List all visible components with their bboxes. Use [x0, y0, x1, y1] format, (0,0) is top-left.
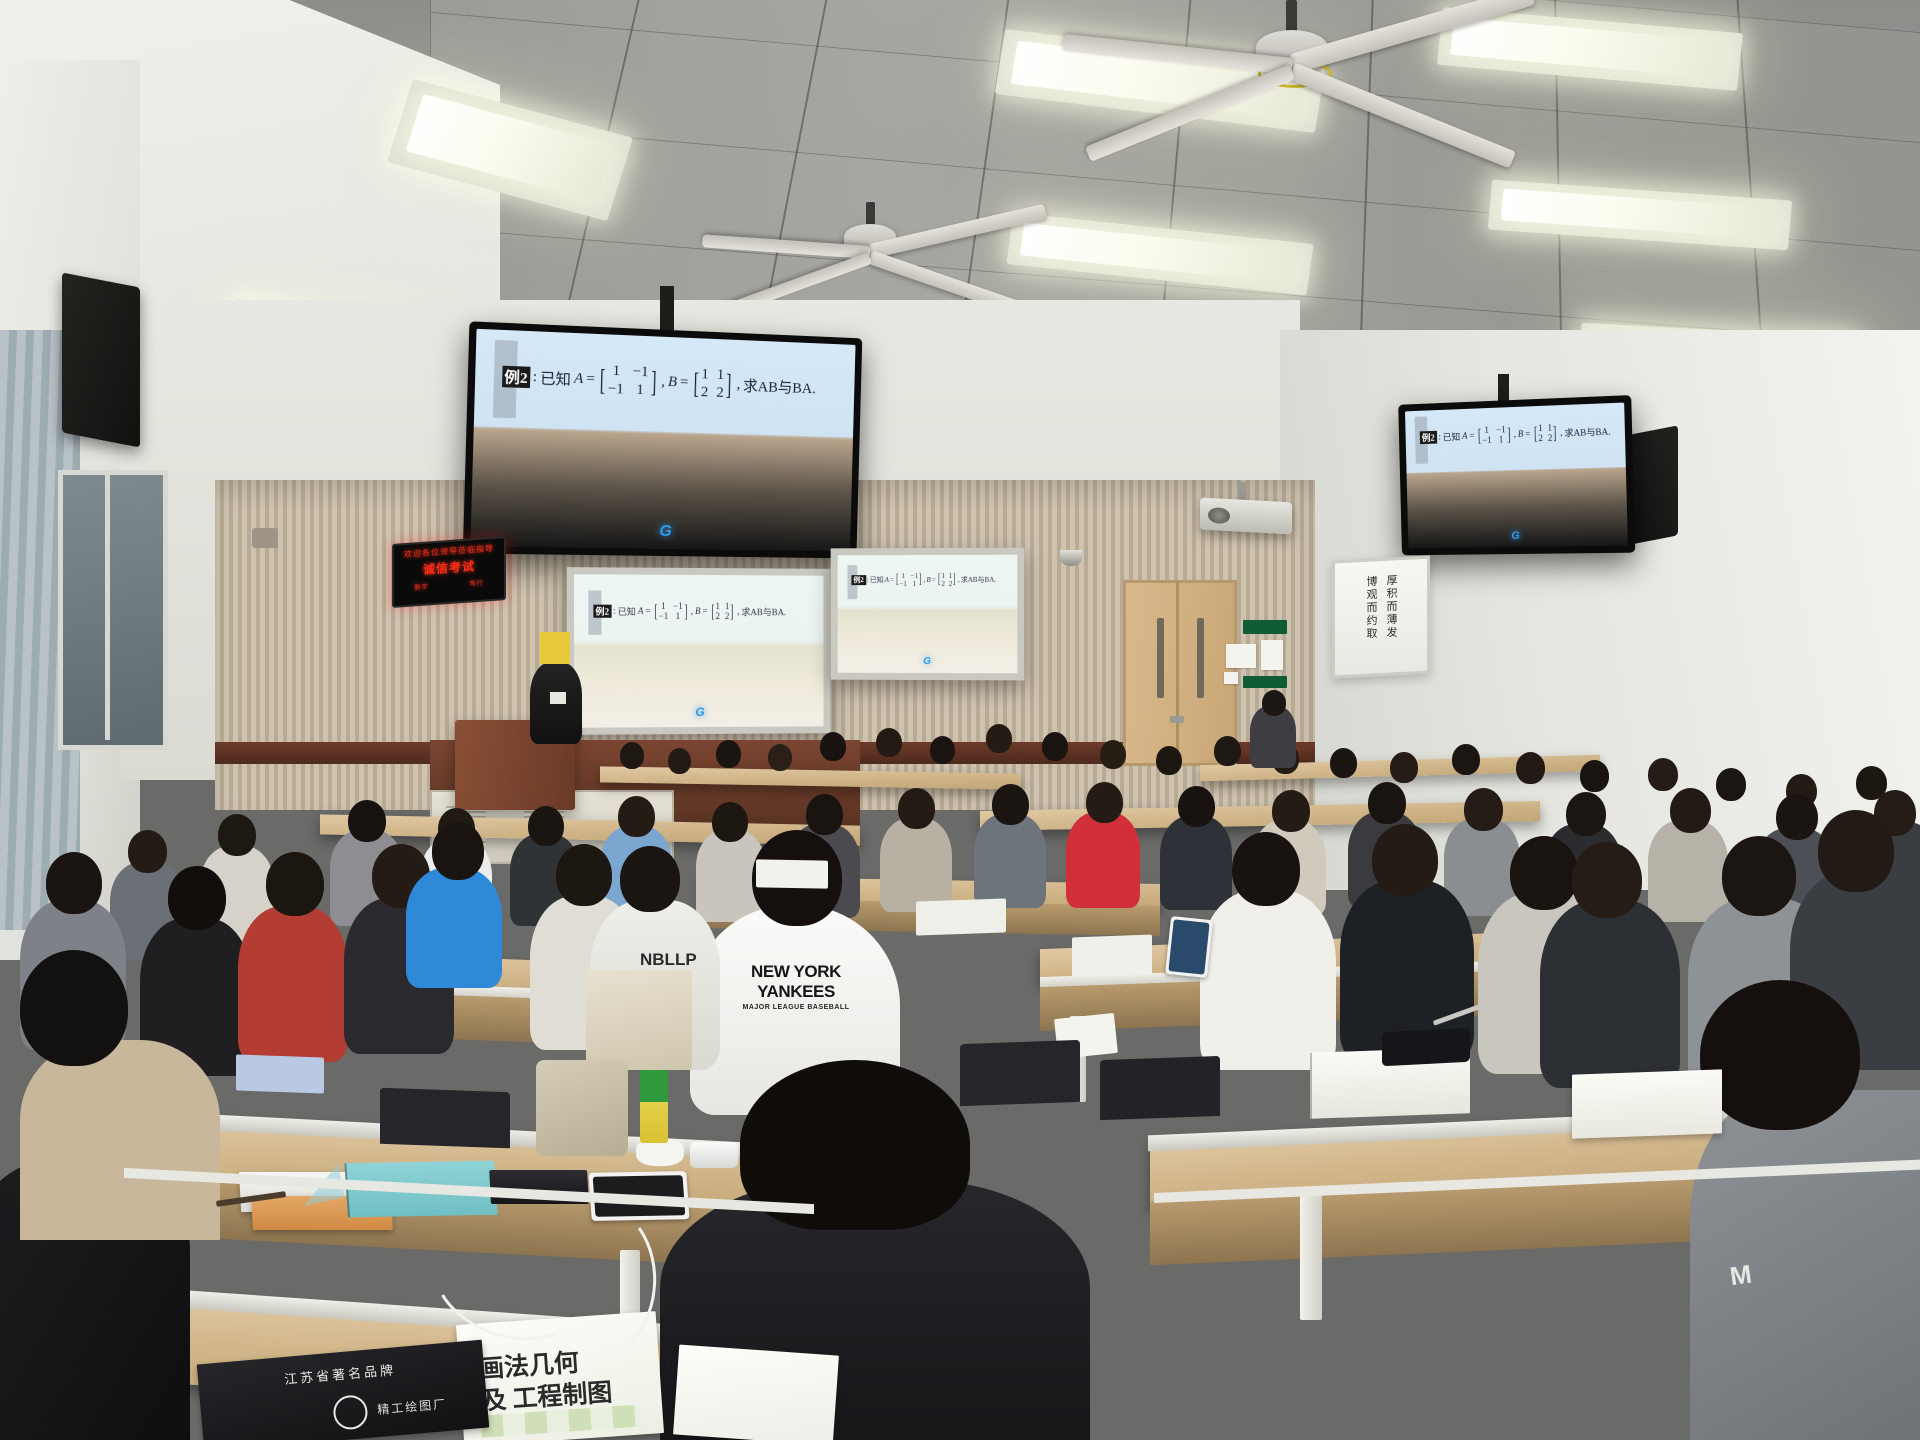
student-head [128, 830, 167, 873]
chair-back [1100, 1056, 1220, 1120]
student-head [556, 844, 612, 906]
wall-vent [252, 528, 278, 548]
slide-comma-2: , [736, 376, 740, 393]
slide-matrix-a-name: A [1462, 431, 1468, 441]
cell: −1 [899, 580, 906, 588]
student-torso [880, 818, 952, 912]
slide-comma: , [1513, 429, 1515, 439]
backpack[interactable] [536, 1060, 628, 1156]
cell: 1 [659, 601, 669, 611]
student-head [992, 784, 1029, 825]
cell: 1 [715, 601, 719, 611]
student-torso [1540, 900, 1680, 1088]
led-line-3-right: 笃行 [469, 578, 483, 588]
led-marquee-sign: 欢迎各位领导莅临指导 诚信考试 勤学 笃行 [392, 536, 506, 608]
student-head [348, 800, 386, 842]
student-torso-red-hoodie [1066, 812, 1140, 908]
sleeve-print: M [1728, 1259, 1754, 1293]
tv-brand-logo: G [1511, 530, 1520, 542]
slide-matrix-b: [ 1 1 2 2 ] [710, 601, 736, 621]
slide-equals-2: = [702, 606, 707, 616]
open-book[interactable] [1572, 1069, 1722, 1138]
student-head [1572, 842, 1642, 918]
slide-example-label: 例2 [1420, 431, 1437, 444]
cell: 1 [632, 381, 648, 399]
canvas-bag[interactable] [586, 970, 692, 1070]
student-torso [1160, 816, 1232, 910]
cell: 2 [1548, 433, 1553, 443]
student-head [1648, 758, 1678, 791]
student-head [1232, 832, 1300, 906]
slide-comma: , [691, 606, 693, 616]
slide-comma-2: , [1560, 427, 1563, 437]
window-mullion [105, 470, 110, 740]
slide-question: 求AB与BA. [741, 605, 786, 618]
slide-given: 已知 [1443, 430, 1461, 443]
hoodie-sleeve-text: NBLLP [640, 950, 697, 970]
slide-matrix-a: [ 1 −1 −1 1 ] [895, 572, 923, 588]
earphone-case[interactable] [690, 1142, 738, 1168]
student-head [1776, 794, 1818, 840]
hoodie-line-2: MAJOR LEAGUE BASEBALL [718, 1004, 874, 1011]
slide-comma-2: , [958, 576, 960, 584]
cell: −1 [1496, 424, 1506, 434]
slide-colon: : [533, 369, 538, 386]
student-head [768, 744, 792, 771]
student-torso-foreground [1690, 1090, 1920, 1440]
student-head [432, 822, 484, 880]
slide-matrix-a-name: A [574, 370, 584, 388]
cell: −1 [1482, 435, 1492, 445]
cell: 1 [941, 572, 945, 580]
student-torso [1648, 820, 1728, 922]
cell: 1 [1538, 423, 1543, 433]
slide-given: 已知 [540, 367, 571, 389]
slide-given: 已知 [618, 604, 636, 617]
smartphone[interactable] [1382, 1028, 1470, 1067]
calligraphy-scroll: 博观而约取 厚积而薄发 [1332, 555, 1430, 678]
student-head [1100, 740, 1126, 769]
cell: 1 [911, 580, 918, 588]
student-head [1042, 732, 1068, 761]
ceiling-projector [1200, 498, 1292, 535]
slide-example-label: 例2 [502, 366, 530, 388]
projection-screen-left: 例2 : 已知 A = [ 1 −1 −1 1 ] , B = [ 1 [567, 567, 830, 735]
student-head [218, 814, 256, 856]
student-head [1716, 768, 1746, 801]
smartphone[interactable] [1165, 916, 1213, 978]
cell: 1 [673, 611, 683, 621]
student-head [1566, 792, 1606, 836]
door-vision-panel [1157, 618, 1164, 698]
instrument-box-logo-icon [332, 1394, 369, 1431]
student-head [1580, 760, 1609, 792]
hoodie-graphic: NEW YORK YANKEES MAJOR LEAGUE BASEBALL [718, 962, 874, 1011]
cell: 2 [716, 384, 724, 401]
student-head [1372, 824, 1438, 896]
student-head [1452, 744, 1480, 775]
exit-sign [1243, 676, 1287, 688]
student-head [668, 748, 691, 774]
projection-screen-right: 例2 : 已知 A = [ 1 −1 −1 1 ] , B = [ 1 [831, 548, 1025, 681]
student-torso-blue [406, 868, 502, 988]
slide-colon: : [867, 576, 869, 584]
cell: 2 [949, 580, 953, 588]
notebook[interactable] [1072, 935, 1152, 978]
student-head [168, 866, 226, 930]
projector-watermark: G [923, 656, 931, 667]
cell: −1 [608, 381, 625, 399]
student-head [806, 794, 843, 835]
student-head-foreground [20, 950, 128, 1066]
student-head [1368, 782, 1406, 824]
student-head [1330, 748, 1357, 778]
door-handle[interactable] [1170, 716, 1184, 723]
notebook[interactable] [916, 898, 1006, 935]
wall-notice [1224, 672, 1238, 684]
student-head [620, 742, 644, 769]
desk-leg [1300, 1190, 1322, 1320]
yellow-wall-poster [540, 632, 570, 664]
slide-matrix-b-name: B [695, 606, 700, 616]
cell: 1 [949, 572, 953, 580]
cell: 2 [725, 612, 729, 622]
cell: 2 [701, 384, 709, 401]
door-split-line [1176, 580, 1179, 760]
student-head [716, 740, 741, 768]
student-head [1156, 746, 1182, 775]
cell: 2 [715, 611, 719, 621]
door-vision-panel [1197, 618, 1204, 698]
slide-question: 求AB与BA. [743, 375, 816, 398]
dome-camera [1060, 550, 1082, 566]
student-shoulder-foreground [20, 1040, 220, 1240]
student-head [528, 806, 564, 846]
slide-comma: , [924, 576, 926, 584]
chair-back [380, 1088, 510, 1149]
slide-matrix-b-name: B [927, 576, 931, 584]
slide-equals: = [1469, 431, 1474, 441]
slide-question: 求AB与BA. [1564, 424, 1610, 439]
slide-equals: = [586, 371, 595, 388]
slide-equation: 例2 : 已知 A = [ 1 −1 −1 1 ] , B = [ 1 [851, 572, 996, 589]
student-head [898, 788, 935, 829]
student-head [1722, 836, 1796, 916]
scroll-line-1: 博观而约取 [1363, 575, 1379, 656]
cell: 2 [1538, 433, 1543, 443]
tv-brand-logo: G [659, 523, 672, 541]
slide-question: 求AB与BA. [961, 575, 996, 585]
open-notebook[interactable] [673, 1345, 839, 1440]
student-head [1272, 790, 1310, 832]
cell: −1 [632, 364, 648, 382]
student-head [820, 732, 846, 761]
student-head [266, 852, 324, 916]
slide-matrix-b-name: B [1518, 429, 1524, 439]
student-head [1086, 782, 1123, 823]
slide-example-label: 例2 [593, 604, 611, 617]
student-head [1178, 786, 1215, 827]
television-main[interactable]: 例2 : 已知 A = [ 1 −1 −1 1 ] , B = [463, 321, 862, 558]
cell: −1 [911, 572, 918, 580]
slide-equals: = [890, 576, 894, 584]
notebook[interactable] [236, 1054, 324, 1093]
cell: 1 [701, 366, 709, 383]
window [58, 470, 168, 750]
cell: −1 [673, 601, 683, 611]
slide-matrix-b-name: B [668, 374, 678, 391]
student-head [1464, 788, 1503, 831]
slide-matrix-b: [ 1 1 2 2 ] [937, 572, 957, 588]
slide-comma: , [661, 374, 665, 391]
slide-equals-2: = [1525, 429, 1530, 439]
student-head [1670, 788, 1711, 833]
slide-matrix-a: [ 1 −1 −1 1 ] [597, 362, 658, 399]
slide-comma-2: , [737, 606, 739, 616]
student-head [46, 852, 102, 914]
tv-screen: 例2 : 已知 A = [ 1 −1 −1 1 ] , B = [470, 329, 855, 552]
student-torso [974, 814, 1046, 908]
tv-screen: 例2 : 已知 A = [ 1 −1 −1 1 ] , B = [1405, 403, 1628, 549]
cell: 1 [725, 601, 729, 611]
cell: 1 [1547, 423, 1552, 433]
student-head [1390, 752, 1418, 783]
slide-matrix-b: [ 1 1 2 2 ] [691, 366, 734, 402]
cell: 1 [608, 363, 625, 381]
lecture-hall-photo: 例2 : 已知 A = [ 1 −1 −1 1 ] , B = [0, 0, 1920, 1440]
slide-equals-2: = [932, 576, 936, 584]
slide-equals-2: = [680, 374, 689, 391]
instrument-box-brand: 江苏省著名品牌 [283, 1359, 396, 1388]
hoodie-line-1: NEW YORK YANKEES [718, 962, 874, 1002]
cell: 1 [717, 367, 725, 384]
slide-colon: : [1438, 432, 1441, 442]
student-head [1262, 690, 1286, 716]
student-head [930, 736, 955, 764]
student-head [986, 724, 1012, 753]
cell: −1 [659, 611, 669, 621]
bottle-label [640, 1068, 668, 1102]
cell: 1 [1482, 425, 1492, 435]
student-head [1214, 736, 1241, 766]
chair-back [960, 1040, 1080, 1106]
instrument-box-maker: 精工绘图厂 [377, 1395, 448, 1418]
student-head [1818, 810, 1894, 892]
slide-given: 已知 [870, 575, 884, 585]
wall-speaker [1630, 425, 1678, 544]
student-head [1510, 836, 1578, 910]
cell: 2 [941, 580, 945, 588]
slide-equation: 例2 : 已知 A = [ 1 −1 −1 1 ] , B = [ 1 [593, 601, 786, 622]
led-line-3-left: 勤学 [414, 581, 428, 591]
slide-matrix-b: [ 1 1 2 2 ] [1532, 422, 1558, 443]
wall-notice [1261, 640, 1283, 670]
student-head [620, 846, 680, 912]
notebook[interactable] [756, 859, 828, 888]
student-head [712, 802, 748, 842]
wall-notice [1226, 644, 1256, 668]
scroll-line-2: 厚积而薄发 [1383, 574, 1399, 655]
wall-speaker [62, 272, 140, 447]
student-head [618, 796, 655, 837]
exit-sign [1243, 620, 1287, 634]
student-torso-red [238, 906, 348, 1062]
slide-matrix-a: [ 1 −1 −1 1 ] [653, 601, 689, 622]
slide-matrix-a: [ 1 −1 −1 1 ] [1476, 424, 1512, 446]
slide-colon: : [613, 606, 616, 616]
lecturer-badge [550, 692, 566, 704]
slide-example-label: 例2 [851, 575, 865, 585]
student-head [1516, 752, 1545, 784]
slide-equals: = [645, 606, 650, 616]
student-head [876, 728, 902, 757]
student-head-foreground [1700, 980, 1860, 1130]
television-right[interactable]: 例2 : 已知 A = [ 1 −1 −1 1 ] , B = [1398, 395, 1635, 555]
cell: 1 [1496, 435, 1506, 445]
student-torso [1200, 890, 1336, 1070]
slide-matrix-a-name: A [885, 576, 889, 584]
slide-matrix-a-name: A [638, 606, 644, 616]
cell: 1 [899, 572, 906, 580]
projector-watermark: G [695, 705, 704, 719]
